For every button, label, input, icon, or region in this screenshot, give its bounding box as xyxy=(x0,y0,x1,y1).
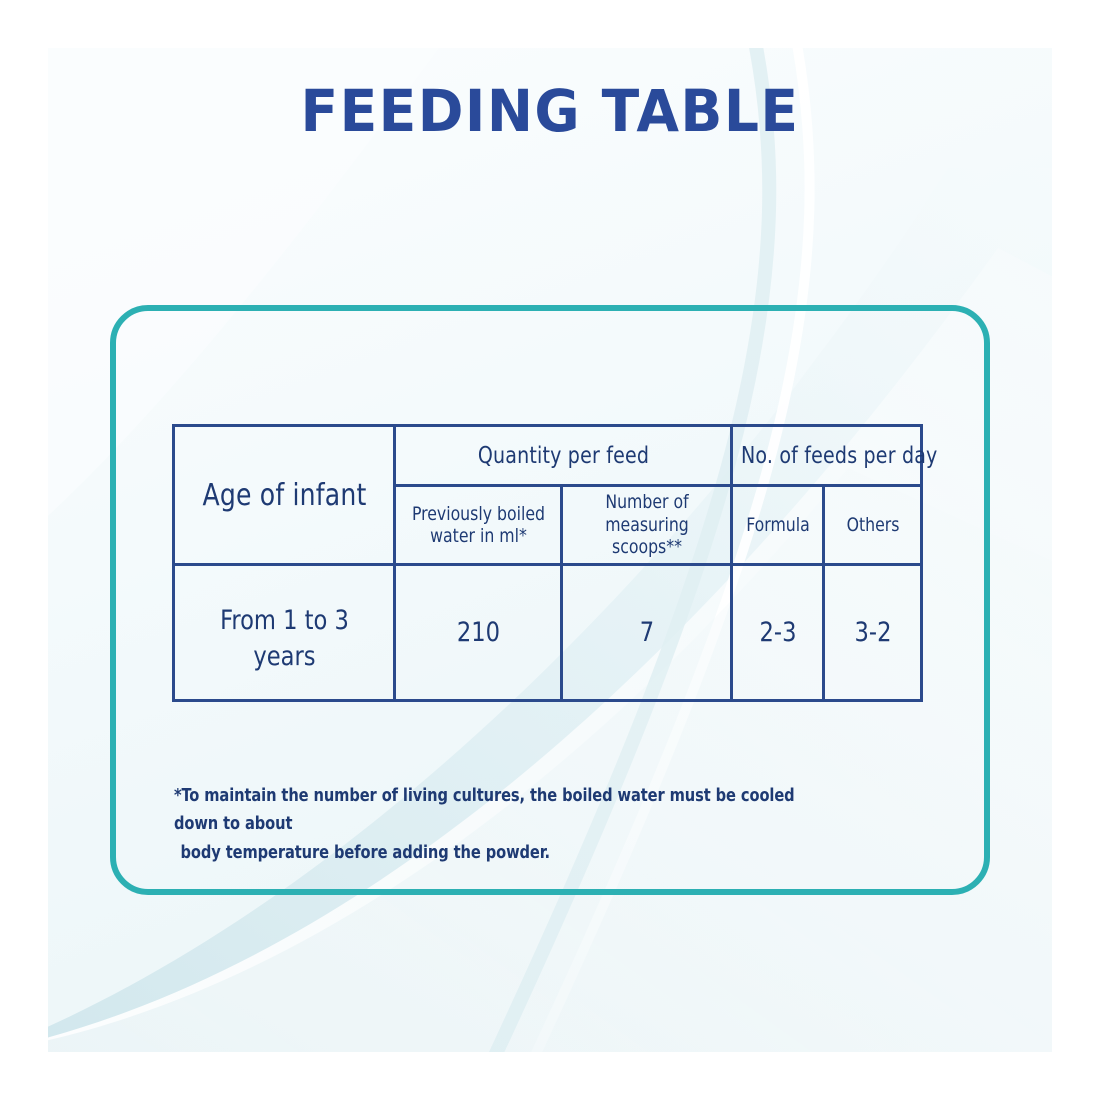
table-body: From 1 to 3 years 210 7 2-3 3-2 xyxy=(174,565,922,701)
header-number-of-measuring-scoops: Number of measuring scoops** xyxy=(568,486,724,565)
header-formula: Formula xyxy=(735,486,820,565)
header-water-line-2: water in ml* xyxy=(430,525,527,547)
cell-measuring-scoops: 7 xyxy=(567,565,725,701)
footnote-line-1: *To maintain the number of living cultur… xyxy=(174,782,825,839)
cell-feeds-others: 3-2 xyxy=(827,565,918,701)
header-previously-boiled-water: Previously boiled water in ml* xyxy=(401,486,555,565)
header-no-of-feeds-per-day: No. of feeds per day xyxy=(739,426,914,486)
header-age-of-infant: Age of infant xyxy=(181,426,387,565)
table-header-row-groups: Age of infant Quantity per feed No. of f… xyxy=(174,426,922,486)
cell-age-of-infant: From 1 to 3 years xyxy=(181,565,387,701)
table-header: Age of infant Quantity per feed No. of f… xyxy=(174,426,922,565)
table-row: From 1 to 3 years 210 7 2-3 3-2 xyxy=(174,565,922,701)
header-others: Others xyxy=(827,486,917,565)
footnote-line-2: body temperature before adding the powde… xyxy=(174,839,825,867)
cell-water-ml: 210 xyxy=(400,565,555,701)
header-water-line-1: Previously boiled xyxy=(411,503,544,525)
cell-feeds-formula: 2-3 xyxy=(735,565,821,701)
page-title: FEEDING TABLE xyxy=(28,82,1073,140)
feeding-table-container: Age of infant Quantity per feed No. of f… xyxy=(172,424,920,678)
footnote: *To maintain the number of living cultur… xyxy=(174,782,825,867)
feeding-table-card: FEEDING TABLE Age of infant Quantity per… xyxy=(0,0,1100,1100)
header-scoops-line-2: measuring scoops** xyxy=(605,514,689,558)
header-quantity-per-feed: Quantity per feed xyxy=(408,426,718,486)
header-scoops-line-1: Number of xyxy=(605,491,688,513)
feeding-table: Age of infant Quantity per feed No. of f… xyxy=(172,424,923,702)
